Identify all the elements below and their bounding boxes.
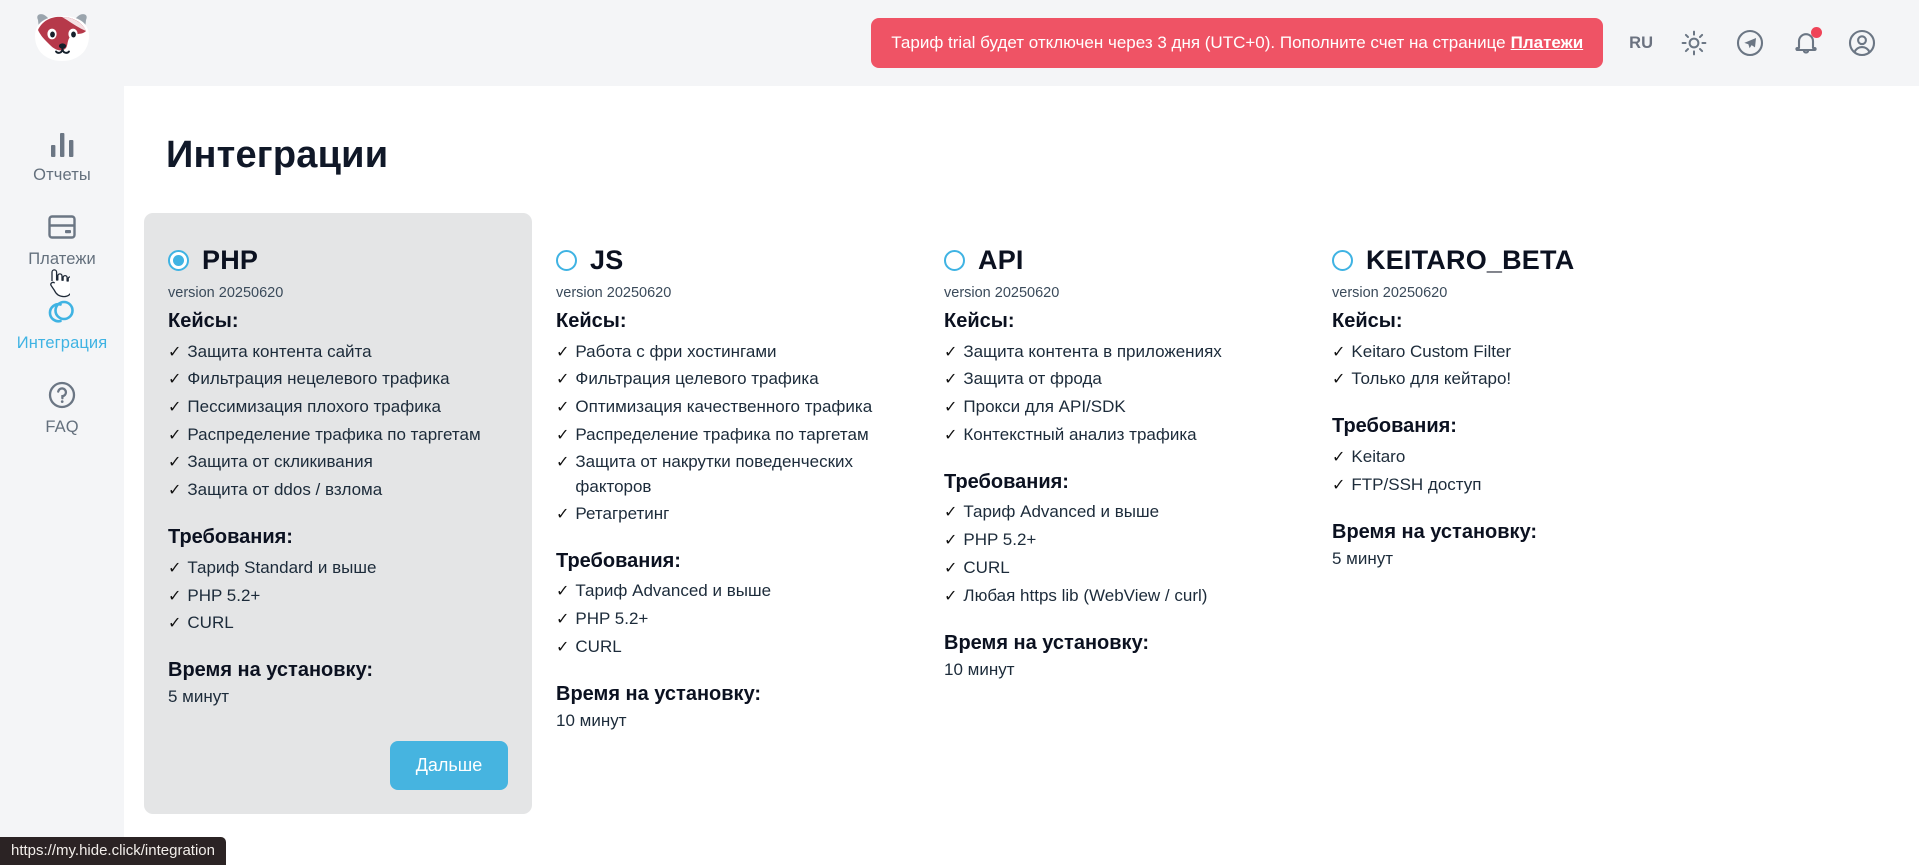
card-header: JS (556, 245, 896, 276)
integration-card-api[interactable]: API version 20250620 Кейсы: ✓Защита конт… (920, 213, 1308, 704)
bell-icon[interactable] (1791, 28, 1821, 58)
install-time-heading: Время на установку: (1332, 521, 1672, 544)
list-item: ✓Контекстный анализ трафика (944, 421, 1284, 449)
alert-payments-link[interactable]: Платежи (1511, 33, 1584, 53)
user-avatar-icon[interactable] (1847, 28, 1877, 58)
list-item-label: Распределение трафика по таргетам (575, 423, 868, 447)
check-icon: ✓ (944, 558, 957, 581)
check-icon: ✓ (168, 613, 181, 636)
radio-button-unselected[interactable] (1332, 250, 1353, 271)
trial-alert-banner: Тариф trial будет отключен через 3 дня (… (871, 18, 1603, 68)
sidebar-nav: Отчеты Платежи (0, 112, 124, 448)
check-icon: ✓ (944, 425, 957, 448)
card-version: version 20250620 (168, 285, 508, 301)
cases-list: ✓Защита контента в приложениях ✓Защита о… (944, 338, 1284, 449)
list-item-label: CURL (963, 556, 1009, 580)
check-icon: ✓ (556, 452, 569, 475)
list-item: ✓Прокси для API/SDK (944, 393, 1284, 421)
list-item: ✓Keitaro Custom Filter (1332, 338, 1672, 366)
list-item: ✓Тариф Advanced и выше (944, 499, 1284, 527)
list-item-label: Защита от скликивания (187, 450, 372, 474)
list-item-label: Тариф Advanced и выше (575, 579, 771, 603)
list-item: ✓Защита от накрутки поведенческих фактор… (556, 449, 896, 500)
check-icon: ✓ (944, 369, 957, 392)
list-item: ✓Защита контента сайта (168, 338, 508, 366)
list-item-label: CURL (187, 611, 233, 635)
list-item: ✓Распределение трафика по таргетам (168, 421, 508, 449)
install-time-value: 10 минут (556, 711, 896, 731)
cases-heading: Кейсы: (168, 310, 508, 333)
requirements-heading: Требования: (556, 550, 896, 573)
check-icon: ✓ (168, 342, 181, 365)
list-item-label: CURL (575, 635, 621, 659)
radio-button-unselected[interactable] (556, 250, 577, 271)
integration-card-keitaro-beta[interactable]: KEITARO_BETA version 20250620 Кейсы: ✓Ke… (1308, 213, 1696, 593)
check-icon: ✓ (168, 397, 181, 420)
requirements-list: ✓Keitaro ✓FTP/SSH доступ (1332, 443, 1672, 498)
sidebar-item-label: Отчеты (33, 166, 91, 185)
list-item-label: Защита от ddos / взлома (187, 478, 382, 502)
list-item: ✓Фильтрация нецелевого трафика (168, 366, 508, 394)
list-item-label: Keitaro (1351, 445, 1405, 469)
list-item: ✓Тариф Standard и выше (168, 554, 508, 582)
list-item: ✓Защита от ddos / взлома (168, 477, 508, 505)
alert-text: Тариф trial будет отключен через 3 дня (… (891, 33, 1505, 53)
install-time-heading: Время на установку: (944, 632, 1284, 655)
list-item-label: FTP/SSH доступ (1351, 473, 1481, 497)
card-header: API (944, 245, 1284, 276)
telegram-icon[interactable] (1735, 28, 1765, 58)
integration-card-php[interactable]: PHP version 20250620 Кейсы: ✓Защита конт… (144, 213, 532, 814)
app-root: Отчеты Платежи (0, 0, 1919, 865)
next-button[interactable]: Дальше (390, 741, 508, 790)
card-version: version 20250620 (1332, 285, 1672, 301)
list-item-label: Контекстный анализ трафика (963, 423, 1196, 447)
list-item: ✓Пессимизация плохого трафика (168, 393, 508, 421)
list-item: ✓PHP 5.2+ (556, 606, 896, 634)
radio-dot (173, 255, 184, 266)
topbar: Тариф trial будет отключен через 3 дня (… (124, 0, 1919, 86)
requirements-heading: Требования: (168, 526, 508, 549)
install-time-heading: Время на установку: (168, 659, 508, 682)
list-item: ✓Распределение трафика по таргетам (556, 421, 896, 449)
check-icon: ✓ (944, 586, 957, 609)
list-item-label: Защита контента сайта (187, 340, 371, 364)
sidebar-item-integration[interactable]: Интеграция (0, 280, 124, 364)
page-title: Интеграции (166, 134, 1919, 177)
install-time-value: 5 минут (1332, 549, 1672, 569)
check-icon: ✓ (168, 452, 181, 475)
check-icon: ✓ (944, 530, 957, 553)
card-title: KEITARO_BETA (1366, 245, 1574, 276)
cases-list: ✓Работа с фри хостингами ✓Фильтрация цел… (556, 338, 896, 528)
sidebar-item-label: Платежи (28, 250, 96, 269)
cases-list: ✓Защита контента сайта ✓Фильтрация нецел… (168, 338, 508, 504)
check-icon: ✓ (1332, 342, 1345, 365)
check-icon: ✓ (556, 425, 569, 448)
list-item: ✓PHP 5.2+ (944, 527, 1284, 555)
credit-card-icon (45, 209, 79, 245)
sun-icon[interactable] (1679, 28, 1709, 58)
list-item-label: PHP 5.2+ (575, 607, 648, 631)
check-icon: ✓ (168, 425, 181, 448)
cases-heading: Кейсы: (556, 310, 896, 333)
integration-card-js[interactable]: JS version 20250620 Кейсы: ✓Работа с фри… (532, 213, 920, 755)
list-item: ✓Любая https lib (WebView / curl) (944, 582, 1284, 610)
list-item-label: Любая https lib (WebView / curl) (963, 584, 1207, 608)
card-title: API (978, 245, 1024, 276)
check-icon: ✓ (556, 369, 569, 392)
sidebar-item-label: Интеграция (17, 334, 108, 353)
question-circle-icon (45, 377, 79, 413)
requirements-heading: Требования: (1332, 415, 1672, 438)
list-item: ✓PHP 5.2+ (168, 582, 508, 610)
check-icon: ✓ (556, 342, 569, 365)
list-item-label: Оптимизация качественного трафика (575, 395, 872, 419)
list-item: ✓Ретагретинг (556, 500, 896, 528)
radio-button-selected[interactable] (168, 250, 189, 271)
check-icon: ✓ (556, 397, 569, 420)
list-item-label: Защита контента в приложениях (963, 340, 1221, 364)
card-version: version 20250620 (556, 285, 896, 301)
list-item-label: Защита от накрутки поведенческих факторо… (575, 450, 896, 498)
list-item: ✓Защита от фрода (944, 366, 1284, 394)
list-item-label: Ретагретинг (575, 502, 669, 526)
card-header: PHP (168, 245, 508, 276)
check-icon: ✓ (1332, 475, 1345, 498)
card-version: version 20250620 (944, 285, 1284, 301)
check-icon: ✓ (168, 369, 181, 392)
list-item: ✓Keitaro (1332, 443, 1672, 471)
check-icon: ✓ (1332, 369, 1345, 392)
requirements-heading: Требования: (944, 471, 1284, 494)
list-item: ✓Защита от скликивания (168, 449, 508, 477)
list-item: ✓CURL (556, 633, 896, 661)
check-icon: ✓ (556, 609, 569, 632)
list-item: ✓Работа с фри хостингами (556, 338, 896, 366)
radio-button-unselected[interactable] (944, 250, 965, 271)
install-time-value: 10 минут (944, 660, 1284, 680)
sidebar: Отчеты Платежи (0, 0, 124, 865)
list-item: ✓CURL (168, 610, 508, 638)
list-item: ✓Защита контента в приложениях (944, 338, 1284, 366)
card-title: PHP (202, 245, 258, 276)
card-header: KEITARO_BETA (1332, 245, 1672, 276)
check-icon: ✓ (944, 342, 957, 365)
list-item-label: PHP 5.2+ (963, 528, 1036, 552)
notification-badge (1811, 27, 1822, 38)
integration-cards: PHP version 20250620 Кейсы: ✓Защита конт… (124, 213, 1919, 814)
list-item-label: Защита от фрода (963, 367, 1101, 391)
list-item: ✓CURL (944, 554, 1284, 582)
list-item-label: Пессимизация плохого трафика (187, 395, 441, 419)
list-item-label: PHP 5.2+ (187, 584, 260, 608)
list-item-label: Работа с фри хостингами (575, 340, 776, 364)
requirements-list: ✓Тариф Advanced и выше ✓PHP 5.2+ ✓CURL ✓… (944, 499, 1284, 610)
check-icon: ✓ (1332, 447, 1345, 470)
list-item-label: Только для кейтаро! (1351, 367, 1511, 391)
list-item-label: Тариф Standard и выше (187, 556, 376, 580)
language-switcher[interactable]: RU (1629, 34, 1653, 53)
check-icon: ✓ (168, 480, 181, 503)
list-item-label: Распределение трафика по таргетам (187, 423, 480, 447)
bar-chart-icon (45, 125, 79, 161)
brand-logo-icon[interactable] (29, 10, 95, 66)
list-item: ✓Фильтрация целевого трафика (556, 366, 896, 394)
requirements-list: ✓Тариф Standard и выше ✓PHP 5.2+ ✓CURL (168, 554, 508, 637)
main-content: Интеграции PHP version 20250620 Кейсы: ✓… (124, 86, 1919, 865)
list-item-label: Тариф Advanced и выше (963, 500, 1159, 524)
cases-heading: Кейсы: (944, 310, 1284, 333)
check-icon: ✓ (944, 502, 957, 525)
card-title: JS (590, 245, 623, 276)
sidebar-item-payments[interactable]: Платежи (0, 196, 124, 280)
check-icon: ✓ (556, 581, 569, 604)
link-icon (44, 293, 80, 329)
sidebar-item-reports[interactable]: Отчеты (0, 112, 124, 196)
topbar-icons: RU (1629, 28, 1877, 58)
list-item: ✓Только для кейтаро! (1332, 366, 1672, 394)
check-icon: ✓ (556, 637, 569, 660)
check-icon: ✓ (168, 586, 181, 609)
list-item-label: Фильтрация целевого трафика (575, 367, 818, 391)
check-icon: ✓ (944, 397, 957, 420)
install-time-value: 5 минут (168, 687, 508, 707)
list-item-label: Фильтрация нецелевого трафика (187, 367, 449, 391)
list-item: ✓Тариф Advanced и выше (556, 578, 896, 606)
sidebar-item-faq[interactable]: FAQ (0, 364, 124, 448)
list-item-label: Прокси для API/SDK (963, 395, 1125, 419)
cases-heading: Кейсы: (1332, 310, 1672, 333)
check-icon: ✓ (556, 504, 569, 527)
sidebar-item-label: FAQ (45, 418, 78, 437)
list-item-label: Keitaro Custom Filter (1351, 340, 1511, 364)
status-bar-url: https://my.hide.click/integration (0, 837, 226, 865)
requirements-list: ✓Тариф Advanced и выше ✓PHP 5.2+ ✓CURL (556, 578, 896, 661)
cases-list: ✓Keitaro Custom Filter ✓Только для кейта… (1332, 338, 1672, 393)
list-item: ✓FTP/SSH доступ (1332, 471, 1672, 499)
check-icon: ✓ (168, 558, 181, 581)
install-time-heading: Время на установку: (556, 683, 896, 706)
list-item: ✓Оптимизация качественного трафика (556, 393, 896, 421)
